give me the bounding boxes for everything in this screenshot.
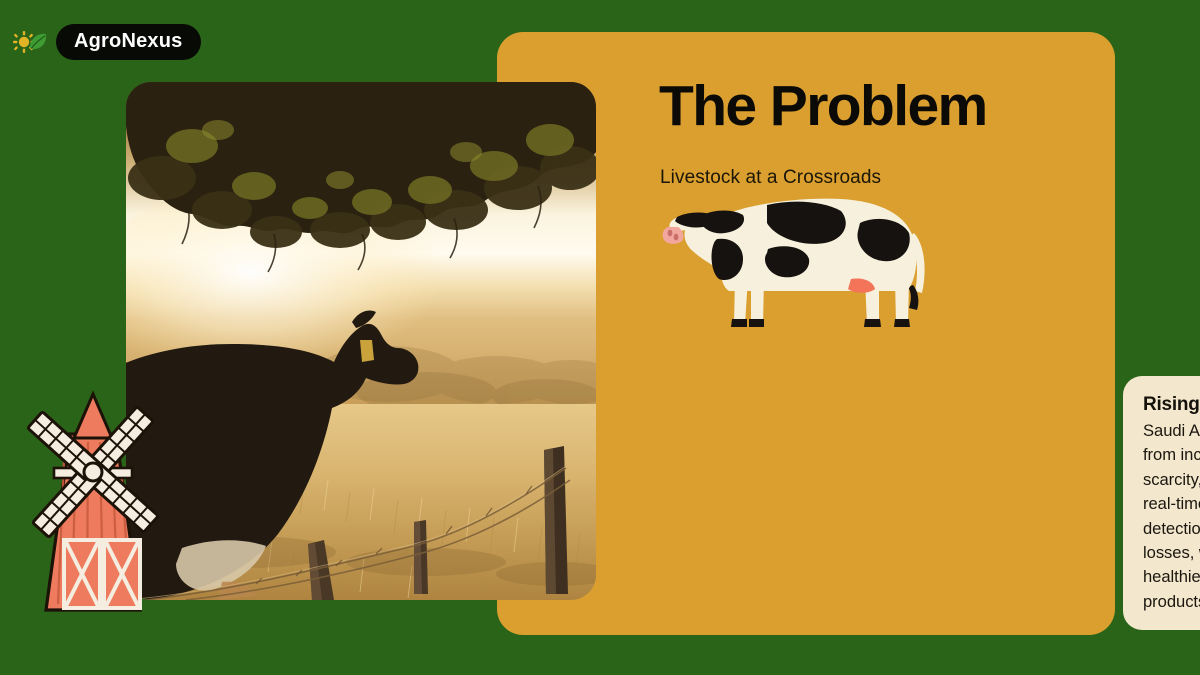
sun-leaf-icon — [10, 22, 50, 62]
page-title: The Problem — [659, 78, 987, 135]
red-windmill-barn-illustration — [8, 342, 218, 622]
slide-canvas: AgroNexus The Problem Livestock at a Cro… — [0, 0, 1200, 675]
card-body-text: Saudi Arabia’s livestock sector is under… — [1143, 419, 1200, 615]
card-heading: Rising demand, limited resources. — [1143, 392, 1200, 418]
brand-row: AgroNexus — [10, 22, 201, 62]
problem-description-card: Rising demand, limited resources. Saudi … — [1123, 376, 1200, 630]
dairy-cow-illustration — [655, 167, 955, 347]
brand-name-pill[interactable]: AgroNexus — [56, 24, 201, 60]
